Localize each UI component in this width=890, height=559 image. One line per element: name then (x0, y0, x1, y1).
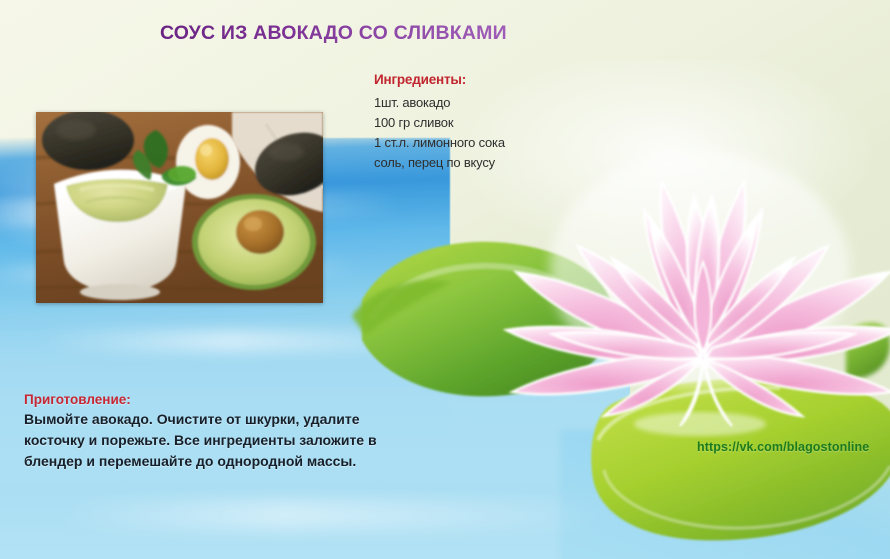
ingredient-item: соль, перец по вкусу (374, 153, 604, 173)
ingredients-block: Ингредиенты: 1шт. авокадо 100 гр сливок … (374, 72, 604, 173)
ingredient-item: 1шт. авокадо (374, 93, 604, 113)
ingredient-item: 100 гр сливок (374, 113, 604, 133)
ingredient-item: 1 ст.л. лимонного сока (374, 133, 604, 153)
recipe-photo (36, 112, 323, 303)
source-url[interactable]: https://vk.com/blagostonline (697, 440, 869, 454)
page-title: СОУС ИЗ АВОКАДО СО СЛИВКАМИ (160, 22, 540, 45)
preparation-block: Приготовление: Вымойте авокадо. Очистите… (24, 392, 424, 472)
recipe-poster: СОУС ИЗ АВОКАДО СО СЛИВКАМИ Ингредиенты:… (0, 0, 890, 559)
preparation-line: блендер и перемешайте до однородной масс… (24, 451, 424, 472)
preparation-line: косточку и порежьте. Все ингредиенты зал… (24, 430, 424, 451)
preparation-heading: Приготовление: (24, 392, 424, 407)
lotus-reflection (634, 412, 766, 436)
preparation-line: Вымойте авокадо. Очистите от шкурки, уда… (24, 409, 424, 430)
ingredients-heading: Ингредиенты: (374, 72, 604, 87)
